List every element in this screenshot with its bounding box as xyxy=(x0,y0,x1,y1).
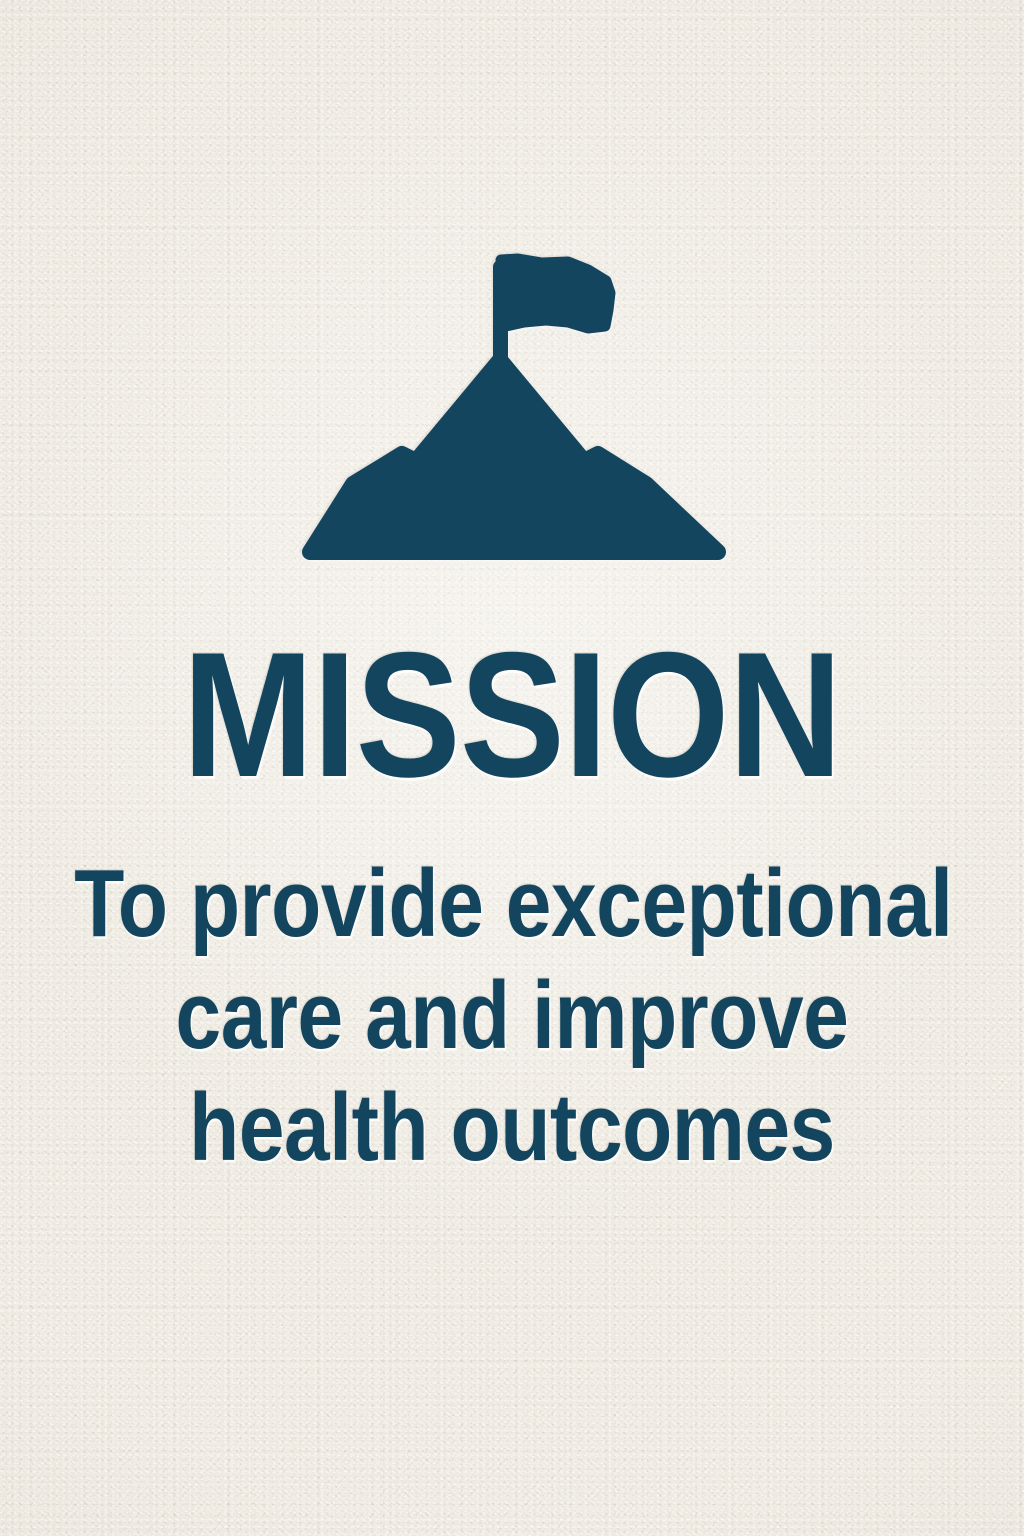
page-title: MISSION xyxy=(59,626,965,804)
mission-statement-line-3: health outcomes xyxy=(74,1072,950,1184)
mission-poster: MISSION To provide exceptional care and … xyxy=(0,0,1024,1536)
mission-statement-line-1: To provide exceptional xyxy=(74,848,950,960)
mission-statement: To provide exceptional care and improve … xyxy=(74,848,950,1184)
flag-shape xyxy=(501,259,610,328)
mission-statement-line-2: care and improve xyxy=(74,960,950,1072)
mountain-peaks-shape xyxy=(310,360,718,552)
mountain-with-flag-icon xyxy=(296,248,732,566)
